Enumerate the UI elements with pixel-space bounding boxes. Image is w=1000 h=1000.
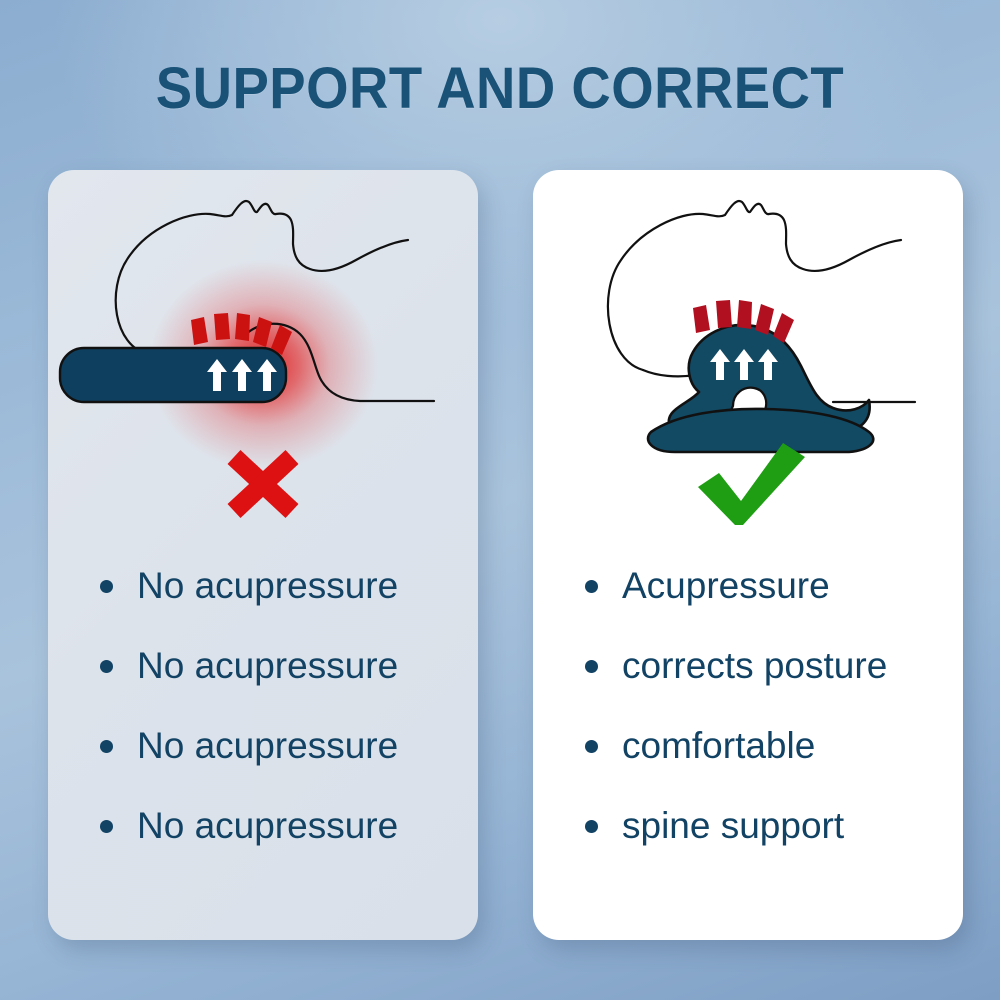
panel-card-wrong: No acupressure No acupressure No acupres… bbox=[48, 170, 478, 940]
bullet-dot-icon bbox=[100, 740, 113, 753]
flat-pillow-shape bbox=[60, 348, 286, 402]
bullet-dot-icon bbox=[585, 660, 598, 673]
bullet-label: spine support bbox=[622, 806, 844, 846]
verdict-cross bbox=[48, 425, 478, 535]
list-item: No acupressure bbox=[48, 626, 478, 706]
pressure-up-arrows bbox=[710, 349, 778, 380]
bullet-list-correct: Acupressure corrects posture comfortable… bbox=[533, 546, 963, 866]
list-item: spine support bbox=[533, 786, 963, 866]
list-item: Acupressure bbox=[533, 546, 963, 626]
cross-mark-icon bbox=[234, 457, 292, 511]
page-title: SUPPORT AND CORRECT bbox=[30, 58, 970, 120]
bullet-dot-icon bbox=[100, 820, 113, 833]
bullet-label: No acupressure bbox=[137, 726, 398, 766]
bullet-label: comfortable bbox=[622, 726, 815, 766]
list-item: No acupressure bbox=[48, 706, 478, 786]
verdict-check bbox=[533, 425, 963, 535]
bullet-list-wrong: No acupressure No acupressure No acupres… bbox=[48, 546, 478, 866]
bullet-dot-icon bbox=[100, 580, 113, 593]
bullet-label: No acupressure bbox=[137, 566, 398, 606]
infographic-canvas: SUPPORT AND CORRECT bbox=[0, 0, 1000, 1000]
bullet-dot-icon bbox=[585, 820, 598, 833]
list-item: comfortable bbox=[533, 706, 963, 786]
neck-underside-line bbox=[643, 370, 695, 376]
bullet-label: Acupressure bbox=[622, 566, 830, 606]
list-item: corrects posture bbox=[533, 626, 963, 706]
bullet-dot-icon bbox=[585, 740, 598, 753]
bullet-label: No acupressure bbox=[137, 646, 398, 686]
list-item: No acupressure bbox=[48, 546, 478, 626]
panel-card-correct: Acupressure corrects posture comfortable… bbox=[533, 170, 963, 940]
check-mark-icon bbox=[698, 443, 805, 525]
pressure-up-arrows bbox=[207, 359, 277, 391]
bullet-dot-icon bbox=[585, 580, 598, 593]
list-item: No acupressure bbox=[48, 786, 478, 866]
bullet-label: corrects posture bbox=[622, 646, 887, 686]
bullet-label: No acupressure bbox=[137, 806, 398, 846]
bullet-dot-icon bbox=[100, 660, 113, 673]
